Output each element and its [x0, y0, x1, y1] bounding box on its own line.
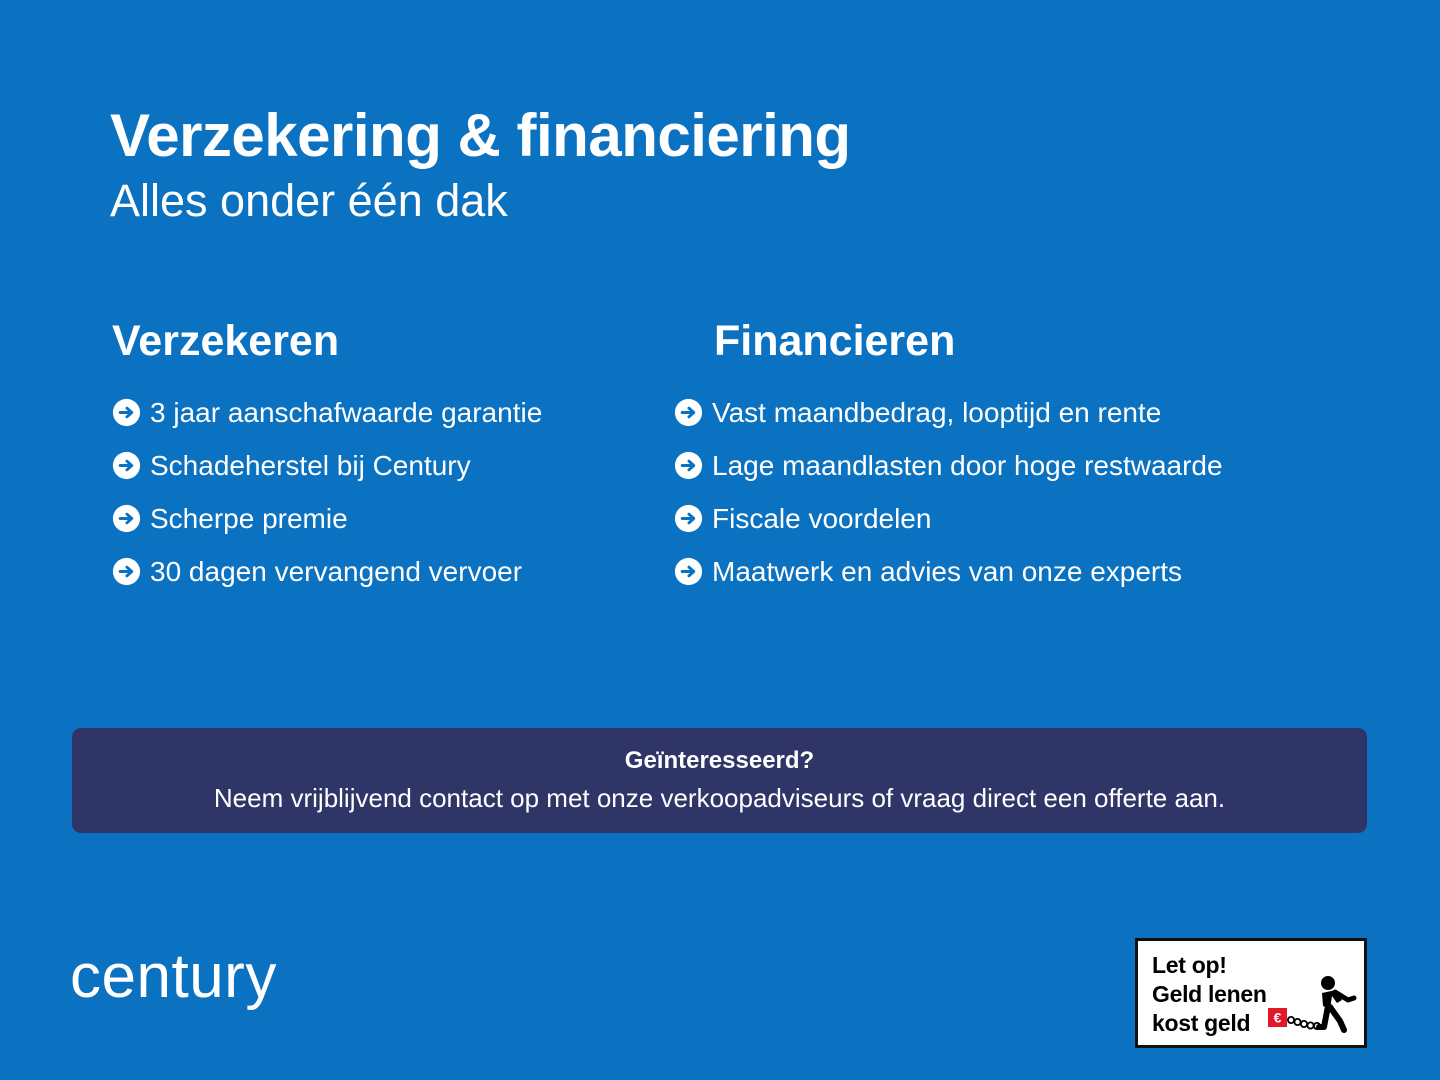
list-item-label: 30 dagen vervangend vervoer: [150, 557, 522, 588]
column-heading-verzekeren: Verzekeren: [112, 318, 632, 364]
list-item: Lage maandlasten door hoge restwaarde: [674, 439, 1440, 492]
list-item-label: Schadeherstel bij Century: [150, 451, 471, 482]
bullet-list-financieren: Vast maandbedrag, looptijd en rente Lage…: [674, 386, 1440, 598]
column-verzekeren: Verzekeren 3 jaar aanschafwaarde garanti…: [0, 318, 632, 598]
cta-title: Geïnteresseerd?: [625, 747, 814, 776]
walking-person-with-euro-ball-and-chain-icon: €: [1266, 975, 1358, 1037]
list-item: Fiscale voordelen: [674, 492, 1440, 545]
arrow-right-circle-icon: [674, 451, 703, 480]
list-item: Schadeherstel bij Century: [112, 439, 632, 492]
list-item-label: Scherpe premie: [150, 504, 348, 535]
svg-text:€: €: [1274, 1010, 1282, 1026]
loan-warning-text: Let op! Geld lenen kost geld: [1152, 951, 1267, 1038]
list-item-label: Vast maandbedrag, looptijd en rente: [712, 398, 1161, 429]
column-financieren: Financieren Vast maandbedrag, looptijd e…: [632, 318, 1440, 598]
page-subtitle: Alles onder één dak: [110, 176, 1310, 226]
loan-warning-line-2: Geld lenen: [1152, 980, 1267, 1009]
list-item: 30 dagen vervangend vervoer: [112, 545, 632, 598]
page-title: Verzekering & financiering: [110, 104, 1310, 168]
arrow-right-circle-icon: [674, 557, 703, 586]
cta-banner[interactable]: Geïnteresseerd? Neem vrijblijvend contac…: [72, 728, 1367, 833]
arrow-right-circle-icon: [112, 398, 141, 427]
list-item: Maatwerk en advies van onze experts: [674, 545, 1440, 598]
arrow-right-circle-icon: [674, 504, 703, 533]
arrow-right-circle-icon: [112, 451, 141, 480]
list-item: Vast maandbedrag, looptijd en rente: [674, 386, 1440, 439]
bullet-list-verzekeren: 3 jaar aanschafwaarde garantie Schadeher…: [112, 386, 632, 598]
century-logo: century: [70, 946, 277, 1008]
list-item-label: Lage maandlasten door hoge restwaarde: [712, 451, 1223, 482]
arrow-right-circle-icon: [112, 504, 141, 533]
header: Verzekering & financiering Alles onder é…: [110, 104, 1310, 226]
loan-warning-line-3: kost geld: [1152, 1009, 1267, 1038]
loan-warning-inner: Let op! Geld lenen kost geld €: [1138, 941, 1364, 1045]
list-item: 3 jaar aanschafwaarde garantie: [112, 386, 632, 439]
loan-warning-badge: Let op! Geld lenen kost geld €: [1135, 938, 1367, 1048]
slide-root: Verzekering & financiering Alles onder é…: [0, 0, 1440, 1080]
arrow-right-circle-icon: [674, 398, 703, 427]
arrow-right-circle-icon: [112, 557, 141, 586]
column-heading-financieren: Financieren: [714, 318, 1440, 364]
loan-warning-line-1: Let op!: [1152, 951, 1267, 980]
list-item-label: Maatwerk en advies van onze experts: [712, 557, 1182, 588]
feature-columns: Verzekeren 3 jaar aanschafwaarde garanti…: [0, 318, 1440, 598]
cta-text: Neem vrijblijvend contact op met onze ve…: [214, 783, 1225, 814]
list-item-label: 3 jaar aanschafwaarde garantie: [150, 398, 542, 429]
list-item: Scherpe premie: [112, 492, 632, 545]
list-item-label: Fiscale voordelen: [712, 504, 931, 535]
